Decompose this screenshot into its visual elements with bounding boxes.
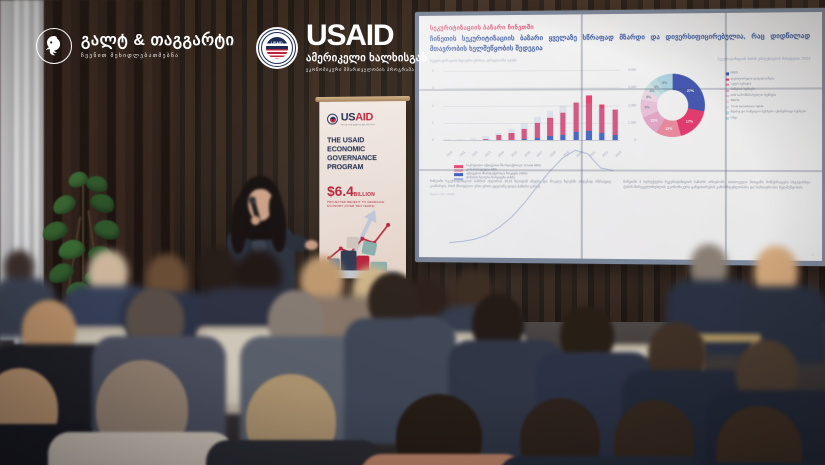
legend-label: ქონების წლიური წარდგენა (ABS) bbox=[466, 176, 541, 180]
slide-screen: სეკურიტიზაციის ბაზარი ჩინეთში ჩინეთის სე… bbox=[419, 12, 822, 261]
bar-column bbox=[470, 71, 475, 140]
donut-slice-label: 12% bbox=[665, 127, 672, 131]
legend-swatch bbox=[454, 165, 463, 168]
footer-text-right: ჩინეთში 4 სტრუქტურა სეკურიტიზაციის ბაზარ… bbox=[623, 180, 810, 198]
y2-tick: 1,000 bbox=[628, 121, 636, 125]
donut-legend-item: მცირე და საშუალო სესხები / ქონებრივი სეს… bbox=[726, 110, 810, 114]
bar-chart-legend: საკრედიტო აქტივებით მხარდაჭერილი (Credit… bbox=[454, 164, 541, 180]
bar-column bbox=[573, 70, 578, 140]
usaid-seal-icon bbox=[327, 114, 338, 125]
slide-subtitle: ჩინეთის სეკურიტიზაციის ბაზარი ყველაზე სწ… bbox=[430, 32, 810, 54]
x-axis-labels: 2010201120122013201420152016201720182019… bbox=[444, 150, 620, 154]
donut-legend-item: ავტო სესხები bbox=[726, 82, 810, 86]
donut-slice-label: 8% bbox=[662, 81, 667, 85]
banner-tagline: FROM THE AMERICAN PEOPLE bbox=[341, 124, 375, 126]
bar-column bbox=[522, 70, 527, 140]
legend-label: MBS bbox=[731, 71, 738, 75]
slide-title: სეკურიტიზაციის ბაზარი ჩინეთში bbox=[430, 21, 810, 31]
legend-color-dot bbox=[726, 117, 729, 119]
donut-slice-label: 17% bbox=[686, 119, 693, 123]
legend-label: დებიტორული დავალიანება bbox=[731, 77, 775, 81]
charts-row: 4 3 2 1 0 4,000 3,000 2,000 1,000 0 bbox=[430, 63, 810, 158]
audience-front-row bbox=[0, 248, 825, 465]
bar-chart: 4 3 2 1 0 4,000 3,000 2,000 1,000 0 bbox=[430, 64, 636, 158]
donut-legend-item: დებიტორული დავალიანება bbox=[726, 77, 810, 81]
legend-label: Trust beneficiary rights bbox=[731, 105, 764, 109]
y-tick: 0 bbox=[432, 138, 434, 142]
legend-label: ავტო სესხები bbox=[731, 83, 752, 87]
bar-column bbox=[586, 70, 591, 140]
bar-column bbox=[509, 71, 514, 141]
y-tick: 4 bbox=[432, 69, 434, 73]
y2-tick: 4,000 bbox=[628, 68, 636, 72]
donut-legend-item: Trust beneficiary rights bbox=[726, 105, 810, 109]
panel-seam-vertical bbox=[581, 14, 583, 258]
donut-ring bbox=[640, 74, 704, 137]
legend-color-dot bbox=[726, 89, 729, 91]
banner-usaid-wordmark: USAID bbox=[341, 112, 375, 123]
donut-chart: 27%17%12%10%9%5%4%4%8% MBSდებიტორული დავ… bbox=[636, 63, 810, 158]
legend-color-dot bbox=[726, 78, 729, 80]
bar-column bbox=[560, 70, 565, 140]
legend-label: სხვა bbox=[731, 116, 738, 120]
bar-column bbox=[483, 71, 488, 140]
audience bbox=[0, 248, 825, 465]
legend-label: მცირე და საშუალო სესხები / ქონებრივი სეს… bbox=[731, 110, 806, 114]
led-video-wall[interactable]: სეკურიტიზაციის ბაზარი ჩინეთში ჩინეთის სე… bbox=[415, 8, 825, 266]
donut-legend: MBSდებიტორული დავალიანებაავტო სესხებიბინ… bbox=[726, 63, 810, 158]
legend-color-dot bbox=[726, 95, 729, 97]
bar-column bbox=[445, 71, 450, 140]
banner-headline: THE USAID ECONOMIC GOVERNANCE PROGRAM bbox=[327, 135, 398, 172]
banner-top-rail bbox=[315, 96, 410, 102]
y2-tick: 2,000 bbox=[628, 103, 636, 107]
banner-logo: USAID FROM THE AMERICAN PEOPLE bbox=[327, 112, 398, 126]
donut-legend-item: A/R სამომხმარებლო სესხები bbox=[726, 94, 810, 98]
y-tick: 1 bbox=[432, 121, 434, 125]
donut-legend-item: სხვა bbox=[726, 116, 810, 120]
bar-column bbox=[535, 70, 540, 140]
chart-caption-right: სეკურიტიზაციის ბაზის ემიტენტების მიხედვი… bbox=[718, 57, 811, 62]
legend-swatch bbox=[454, 174, 463, 177]
legend-color-dot bbox=[726, 112, 729, 114]
donut-slice-label: 5% bbox=[646, 95, 651, 99]
y-tick: 2 bbox=[432, 104, 434, 108]
donut-slice-label: 4% bbox=[649, 89, 654, 93]
donut-legend-item: MBS bbox=[726, 71, 810, 75]
legend-label: A/R სამომხმარებლო სესხები bbox=[731, 94, 776, 98]
presentation-slide: სეკურიტიზაციის ბაზარი ჩინეთში ჩინეთის სე… bbox=[419, 12, 822, 261]
donut-slice-label: 4% bbox=[654, 85, 659, 89]
bar-group bbox=[445, 70, 618, 140]
donut-legend-item: REITs bbox=[726, 99, 810, 103]
bar-column bbox=[458, 71, 463, 140]
legend-color-dot bbox=[726, 106, 729, 108]
legend-label: REITs bbox=[731, 99, 740, 103]
donut-slice-label: 10% bbox=[650, 119, 657, 123]
legend-color-dot bbox=[726, 73, 729, 75]
bar-column bbox=[547, 70, 552, 140]
donut-slice-label: 9% bbox=[645, 106, 650, 110]
conference-photo: სეკურიტიზაციის ბაზარი ჩინეთში ჩინეთის სე… bbox=[0, 0, 825, 465]
bar-column bbox=[496, 71, 501, 140]
legend-color-dot bbox=[726, 84, 729, 86]
chart-caption-left: სეკურიტიზაციის წლიური ემისია, ტრილიონი ი… bbox=[430, 58, 517, 63]
bar-column bbox=[612, 70, 617, 140]
bar-column bbox=[599, 70, 604, 140]
legend-swatch bbox=[454, 178, 463, 181]
panel-seam-vertical bbox=[725, 13, 727, 260]
legend-color-dot bbox=[726, 101, 729, 103]
donut-value-labels: 27%17%12%10%9%5%4%4%8% bbox=[636, 63, 726, 64]
donut-slice-label: 27% bbox=[687, 88, 694, 92]
